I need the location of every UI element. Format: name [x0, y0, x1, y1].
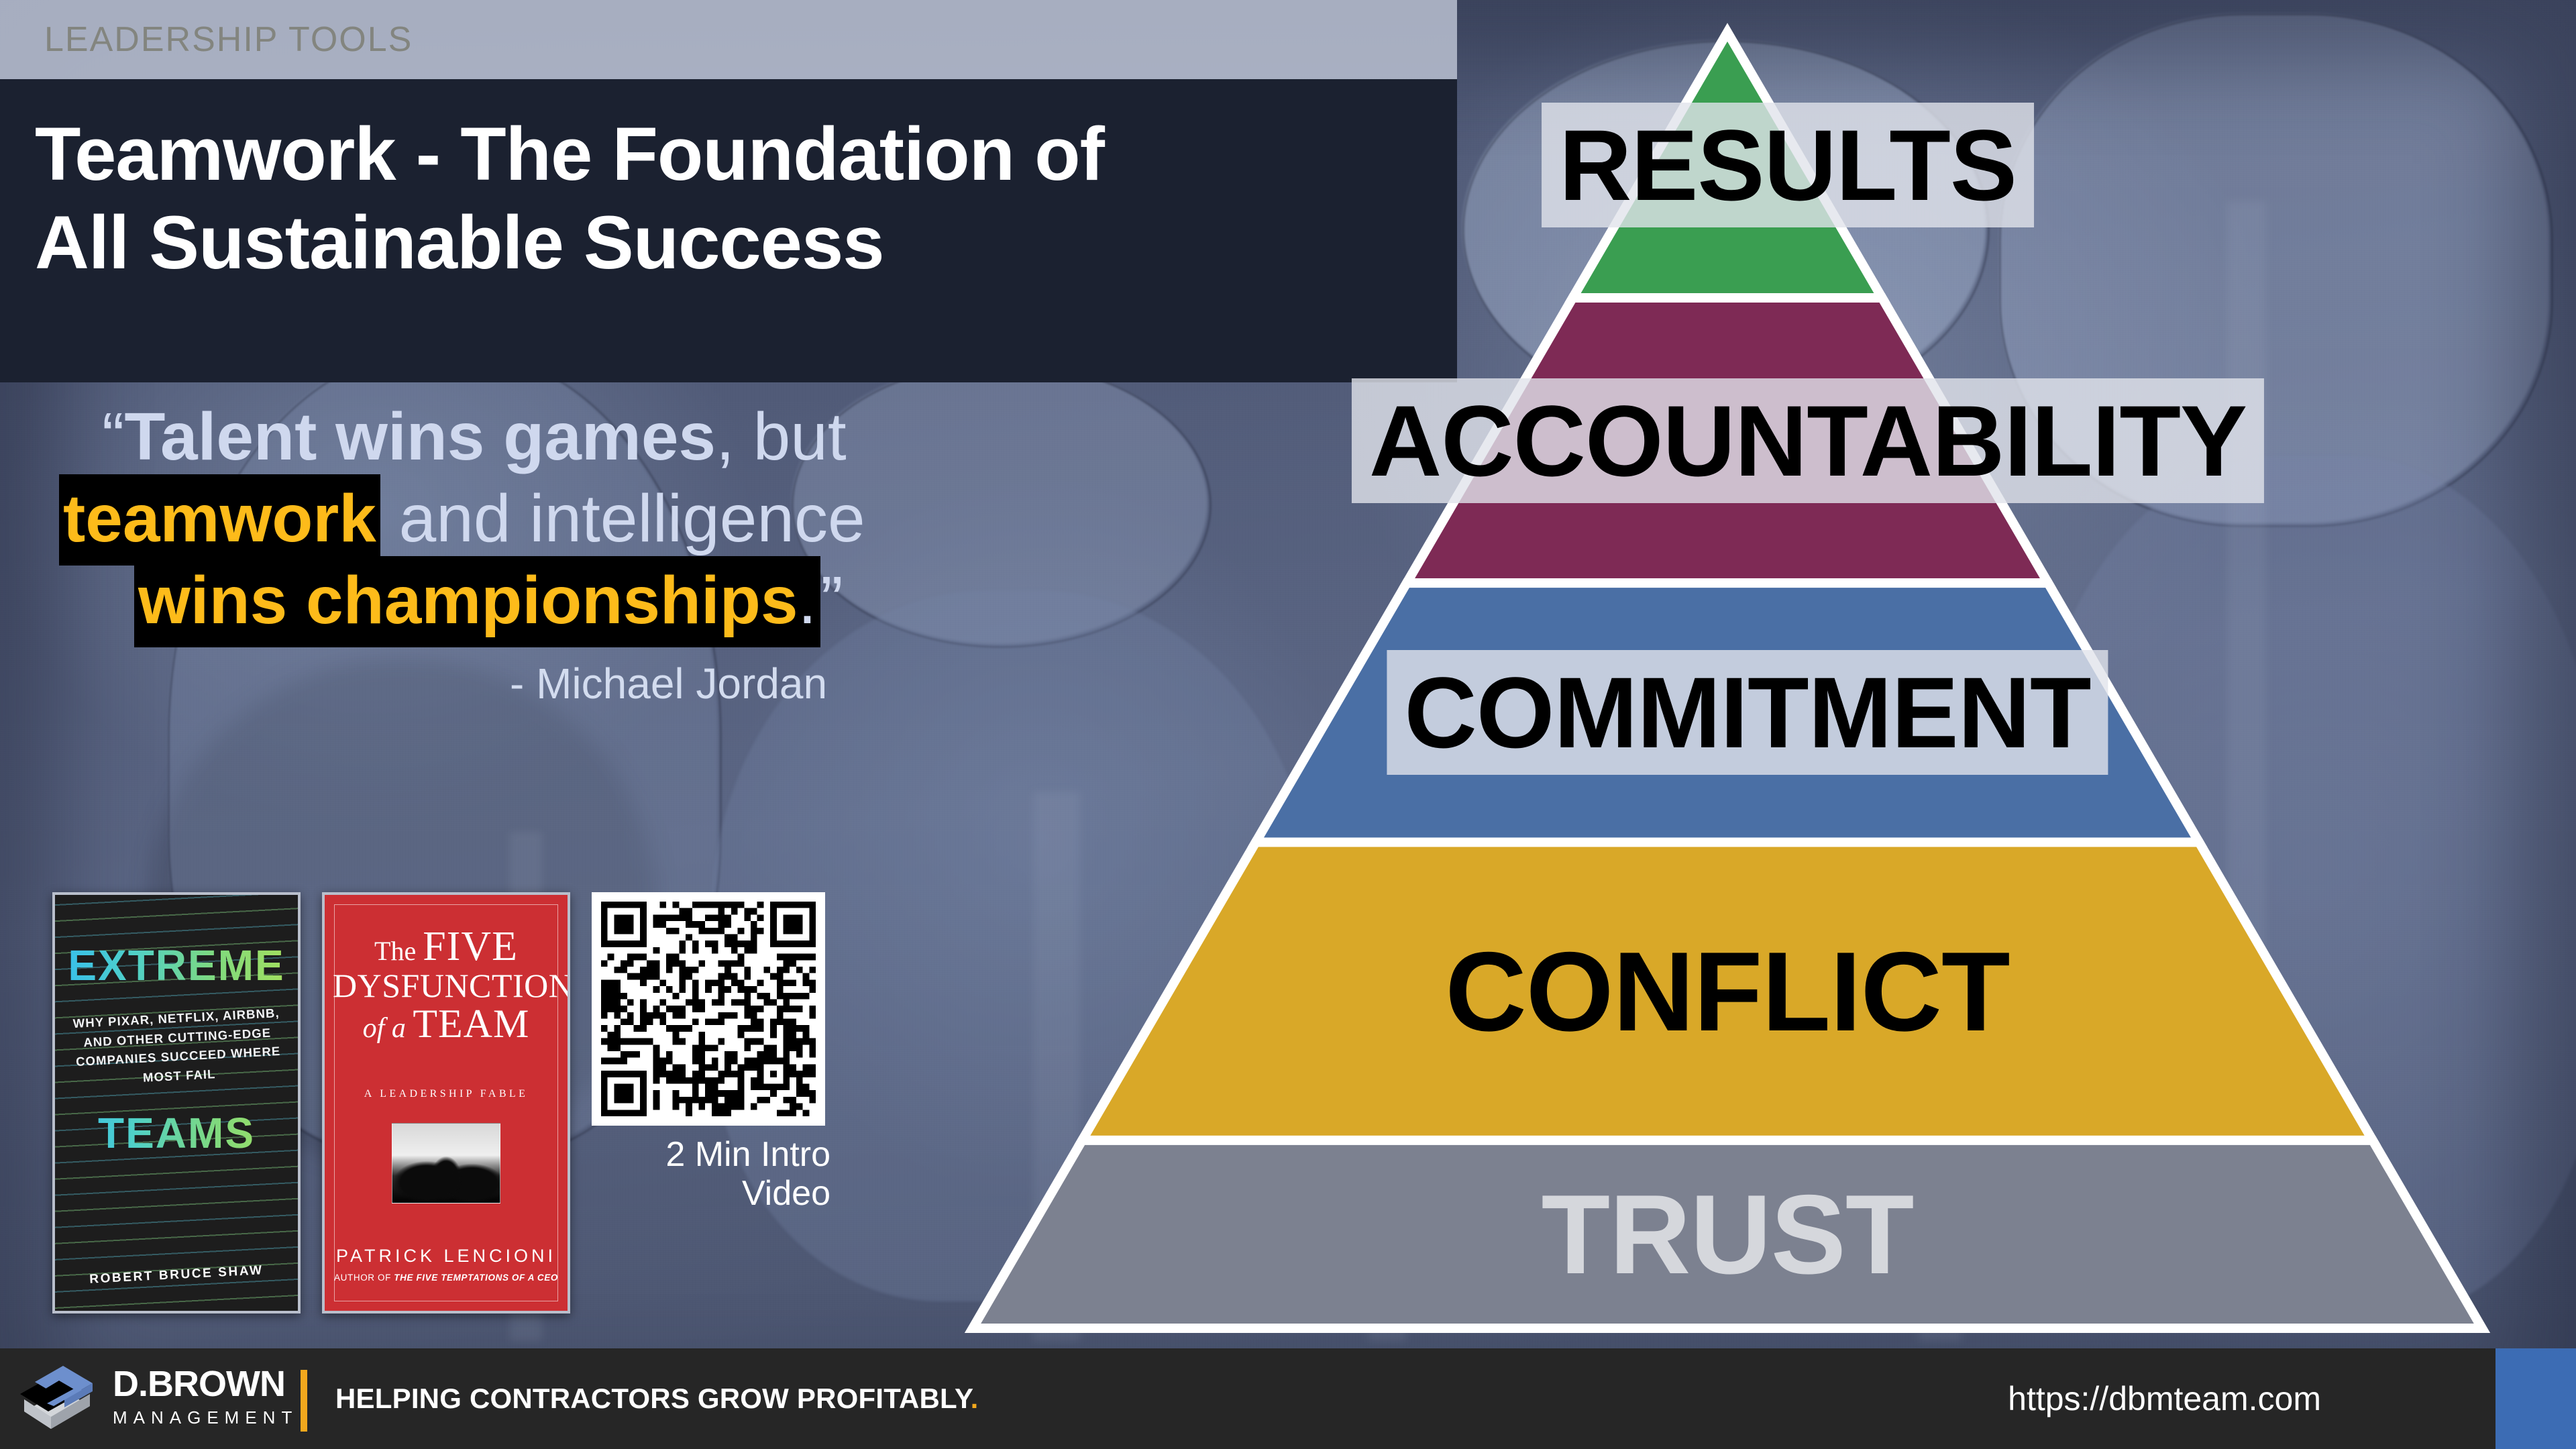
book2-author-credit: AUTHOR OF THE FIVE TEMPTATIONS OF A CEO [325, 1273, 568, 1283]
pyramid-label-results: RESULTS [1542, 103, 2034, 227]
book1-subtitle: WHY PIXAR, NETFLIX, AIRBNB, AND OTHER CU… [66, 1004, 289, 1092]
kicker-label: LEADERSHIP TOOLS [44, 19, 413, 60]
footer-brand-top: D.BROWN [113, 1366, 298, 1402]
resource-row: EXTREME WHY PIXAR, NETFLIX, AIRBNB, AND … [52, 892, 833, 1313]
quote-close-mark: ” [820, 563, 843, 638]
book2-row1-big: FIVE [423, 924, 518, 969]
quote-highlight-championships: wins championships. [134, 556, 820, 647]
qr-caption: 2 Min Intro Video [592, 1135, 833, 1213]
qr-block[interactable]: 2 Min Intro Video [592, 892, 833, 1213]
slide-canvas: LEADERSHIP TOOLS Teamwork - The Foundati… [0, 0, 2576, 1449]
footer-tagline-dot: . [971, 1383, 979, 1414]
book2-title-row2: DYSFUNCTIONS [333, 969, 559, 1002]
quote-highlight-text: wins championships [138, 563, 798, 638]
dbrown-logo-icon [15, 1364, 95, 1434]
qr-caption-line2: Video [592, 1174, 830, 1213]
pyramid-label-accountability: ACCOUNTABILITY [1352, 378, 2264, 503]
book-cover-extreme-teams[interactable]: EXTREME WHY PIXAR, NETFLIX, AIRBNB, AND … [52, 892, 301, 1313]
qr-caption-line1: 2 Min Intro [592, 1135, 830, 1174]
qr-code[interactable] [592, 892, 825, 1126]
book2-row3-big: TEAM [413, 1002, 529, 1046]
pyramid-label-commitment: COMMITMENT [1387, 650, 2108, 775]
footer-accent-block [2495, 1348, 2576, 1449]
book2-credit-title: THE FIVE TEMPTATIONS OF A CEO [394, 1273, 558, 1283]
pyramid-diagram: RESULTSACCOUNTABILITYCOMMITMENTCONFLICTT… [939, 0, 2576, 1348]
quote-bold-talent: Talent wins games [124, 399, 716, 474]
footer-bar: D.BROWN MANAGEMENT HELPING CONTRACTORS G… [0, 1348, 2576, 1449]
quote-line2-rest: and intelligence [380, 481, 865, 556]
book2-title-row3: of a TEAM [333, 1004, 559, 1044]
page-title-line2: All Sustainable Success [35, 201, 884, 284]
book1-title-top: EXTREME [55, 941, 298, 990]
footer-url[interactable]: https://dbmteam.com [2008, 1379, 2321, 1418]
footer-tagline: HELPING CONTRACTORS GROW PROFITABLY. [335, 1383, 978, 1415]
book2-cover-photo [392, 1123, 500, 1203]
book-cover-five-dysfunctions[interactable]: The FIVE DYSFUNCTIONS of a TEAM A LEADER… [322, 892, 570, 1313]
book2-row3-small: of a [363, 1013, 406, 1044]
quote-open-mark: “ [102, 399, 124, 474]
pyramid-label-trust: TRUST [1542, 1178, 1914, 1291]
book2-credit-prefix: AUTHOR OF [334, 1273, 394, 1283]
book1-title-bottom: TEAMS [55, 1108, 298, 1158]
book2-title: The FIVE DYSFUNCTIONS of a TEAM [333, 926, 559, 1044]
footer-divider [301, 1370, 307, 1432]
book2-tagline: A LEADERSHIP FABLE [325, 1088, 568, 1100]
quote-line3-period: . [798, 563, 817, 638]
book2-row1-small: The [374, 936, 416, 966]
footer-brand: D.BROWN MANAGEMENT [113, 1366, 298, 1426]
quote-line1-rest: , but [716, 399, 847, 474]
footer-brand-bottom: MANAGEMENT [113, 1409, 298, 1426]
footer-tagline-text: HELPING CONTRACTORS GROW PROFITABLY [335, 1383, 971, 1414]
book2-title-row1: The FIVE [333, 926, 559, 967]
book2-author: PATRICK LENCIONI [325, 1246, 568, 1267]
quote-highlight-teamwork: teamwork [59, 474, 380, 566]
pyramid-label-conflict: CONFLICT [1445, 935, 2009, 1048]
